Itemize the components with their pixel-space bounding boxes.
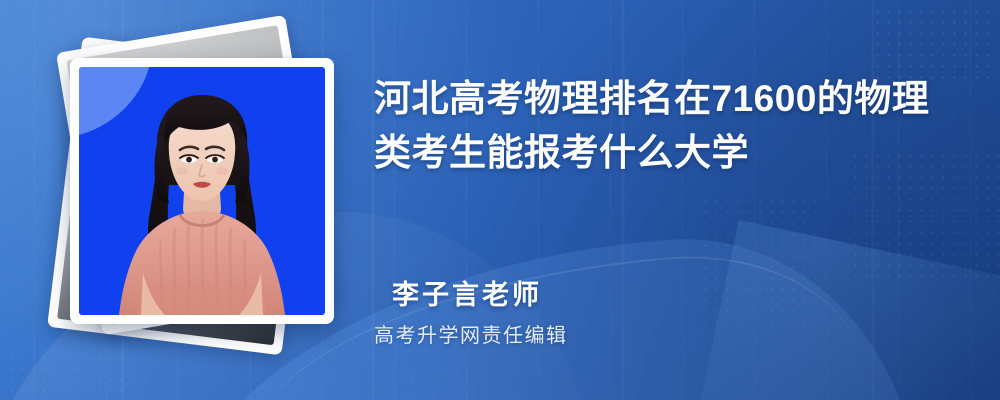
pupil-left xyxy=(186,157,192,163)
blush-right xyxy=(216,167,228,175)
portrait-photo xyxy=(79,67,325,315)
author-role: 高考升学网责任编辑 xyxy=(374,319,568,348)
article-banner: 河北高考物理排名在71600的物理 类考生能报考什么大学 李子言老师 高考升学网… xyxy=(0,0,1000,400)
blush-left xyxy=(176,167,188,175)
portrait-photo-stack xyxy=(46,28,346,372)
headline-line-2: 类考生能报考什么大学 xyxy=(374,126,954,180)
page-title: 河北高考物理排名在71600的物理 类考生能报考什么大学 xyxy=(374,72,954,180)
portrait-illustration xyxy=(79,67,325,315)
photo-card-front xyxy=(70,58,334,324)
banner-text-column: 河北高考物理排名在71600的物理 类考生能报考什么大学 李子言老师 高考升学网… xyxy=(374,0,974,400)
pupil-right xyxy=(212,157,218,163)
headline-line-1: 河北高考物理排名在71600的物理 xyxy=(374,72,954,126)
author-name: 李子言老师 xyxy=(392,273,542,312)
